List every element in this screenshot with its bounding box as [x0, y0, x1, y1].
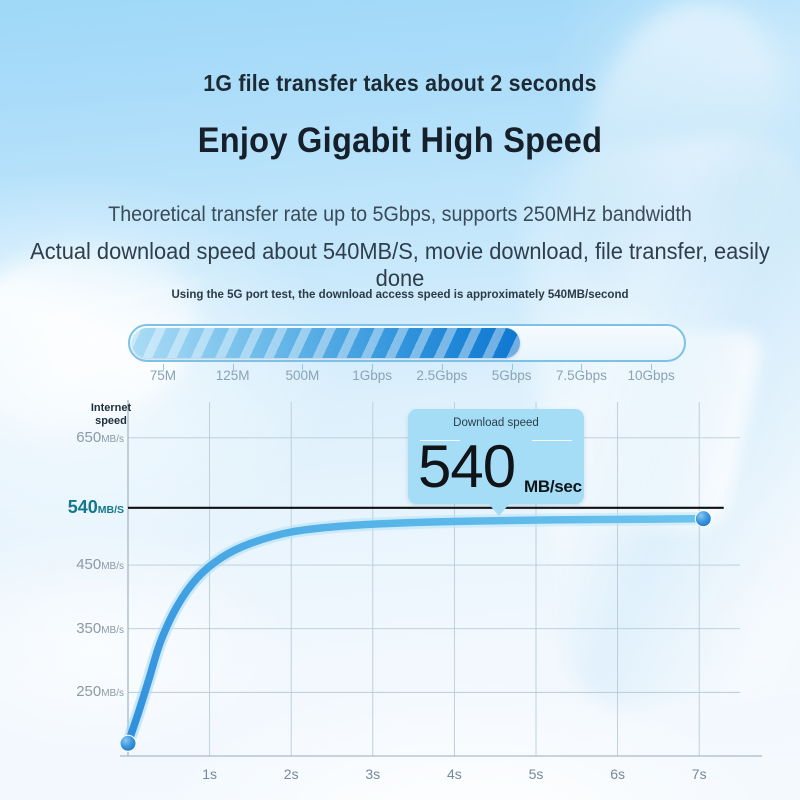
y-axis-tick-label: 450MB/s [76, 556, 124, 573]
progress-scale-label: 1Gbps [332, 368, 412, 383]
progress-scale-label: 7.5Gbps [541, 368, 621, 383]
progress-scale-label: 10Gbps [611, 368, 691, 383]
x-axis-tick-label: 5s [506, 766, 566, 782]
series-line [128, 519, 703, 744]
y-axis-tick-label: 350MB/s [76, 620, 124, 637]
test-note-text: Using the 5G port test, the download acc… [16, 287, 784, 301]
progress-scale-label: 75M [123, 368, 203, 383]
tooltip-divider-right [532, 440, 572, 441]
progress-scale-label: 125M [193, 368, 273, 383]
page-title: Enjoy Gigabit High Speed [28, 121, 772, 161]
x-axis-tick-label: 7s [669, 766, 729, 782]
progress-scale-label: 5Gbps [472, 368, 552, 383]
series-glow [128, 519, 703, 744]
y-axis-labels: 250MB/s350MB/s450MB/s540MB/S650MB/s [0, 396, 124, 800]
series-marker [695, 511, 711, 527]
speed-progress-bar[interactable] [128, 324, 686, 362]
x-axis-tick-label: 4s [424, 766, 484, 782]
x-axis-tick-label: 2s [261, 766, 321, 782]
progress-scale-label: 2.5Gbps [402, 368, 482, 383]
progress-scale-label: 500M [262, 368, 342, 383]
tooltip-value: 540 [418, 437, 515, 497]
chart-line-series [128, 519, 703, 744]
chart-markers [120, 511, 711, 752]
download-speed-tooltip: Download speed 540 MB/sec [408, 409, 584, 504]
tooltip-unit: MB/sec [524, 477, 582, 497]
x-axis-tick-label: 3s [343, 766, 403, 782]
tooltip-label: Download speed [408, 417, 584, 429]
eyebrow-text: 1G file transfer takes about 2 seconds [28, 70, 772, 97]
progress-fill [132, 328, 520, 358]
progress-track [128, 324, 686, 362]
subtitle-two: Actual download speed about 540MB/S, mov… [20, 238, 780, 292]
x-axis-tick-label: 1s [180, 766, 240, 782]
subtitle-one: Theoretical transfer rate up to 5Gbps, s… [24, 203, 776, 227]
tooltip-pointer [488, 503, 510, 516]
y-axis-tick-label: 650MB/s [76, 429, 124, 446]
infographic-canvas: 1G file transfer takes about 2 seconds E… [0, 0, 800, 800]
x-axis-tick-label: 6s [588, 766, 648, 782]
y-axis-highlight-label: 540MB/S [68, 497, 124, 518]
y-axis-tick-label: 250MB/s [76, 683, 124, 700]
progress-scale-labels: 75M125M500M1Gbps2.5Gbps5Gbps7.5Gbps10Gbp… [110, 368, 710, 388]
speed-chart: Internet speed 250MB/s350MB/s450MB/s540M… [0, 396, 800, 800]
